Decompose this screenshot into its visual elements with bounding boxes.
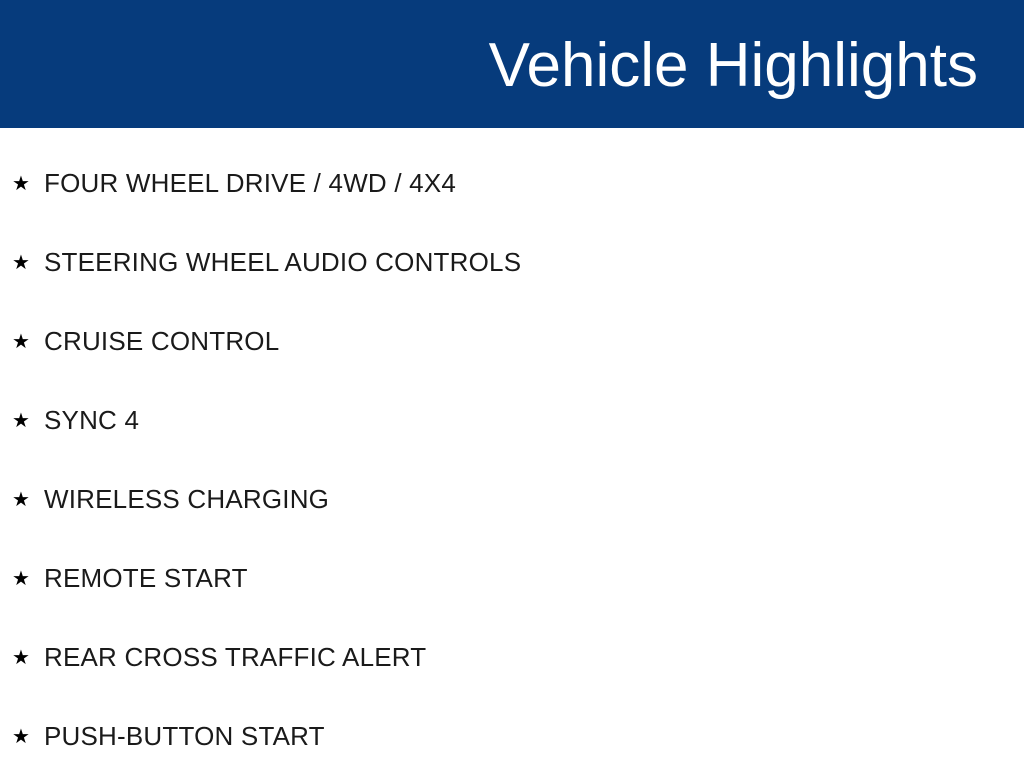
list-item: ★ WIRELESS CHARGING <box>0 460 1024 539</box>
list-item: ★ FOUR WHEEL DRIVE / 4WD / 4X4 <box>0 144 1024 223</box>
highlight-label: WIRELESS CHARGING <box>44 485 329 514</box>
list-item: ★ SYNC 4 <box>0 381 1024 460</box>
vehicle-highlights-slide: Vehicle Highlights ★ FOUR WHEEL DRIVE / … <box>0 0 1024 768</box>
page-title: Vehicle Highlights <box>489 35 978 97</box>
vehicle-highlights-list: ★ FOUR WHEEL DRIVE / 4WD / 4X4 ★ STEERIN… <box>0 128 1024 768</box>
star-icon: ★ <box>12 726 44 746</box>
highlight-label: REAR CROSS TRAFFIC ALERT <box>44 643 426 672</box>
star-icon: ★ <box>12 410 44 430</box>
list-item: ★ PUSH-BUTTON START <box>0 697 1024 776</box>
highlight-label: SYNC 4 <box>44 406 139 435</box>
star-icon: ★ <box>12 331 44 351</box>
list-item: ★ REMOTE START <box>0 539 1024 618</box>
highlight-label: CRUISE CONTROL <box>44 327 279 356</box>
list-item: ★ STEERING WHEEL AUDIO CONTROLS <box>0 223 1024 302</box>
star-icon: ★ <box>12 568 44 588</box>
highlight-label: FOUR WHEEL DRIVE / 4WD / 4X4 <box>44 169 456 198</box>
star-icon: ★ <box>12 647 44 667</box>
highlight-label: STEERING WHEEL AUDIO CONTROLS <box>44 248 521 277</box>
star-icon: ★ <box>12 173 44 193</box>
star-icon: ★ <box>12 489 44 509</box>
highlight-label: PUSH-BUTTON START <box>44 722 325 751</box>
highlight-label: REMOTE START <box>44 564 248 593</box>
list-item: ★ CRUISE CONTROL <box>0 302 1024 381</box>
list-item: ★ REAR CROSS TRAFFIC ALERT <box>0 618 1024 697</box>
star-icon: ★ <box>12 252 44 272</box>
header-band: Vehicle Highlights <box>0 0 1024 128</box>
